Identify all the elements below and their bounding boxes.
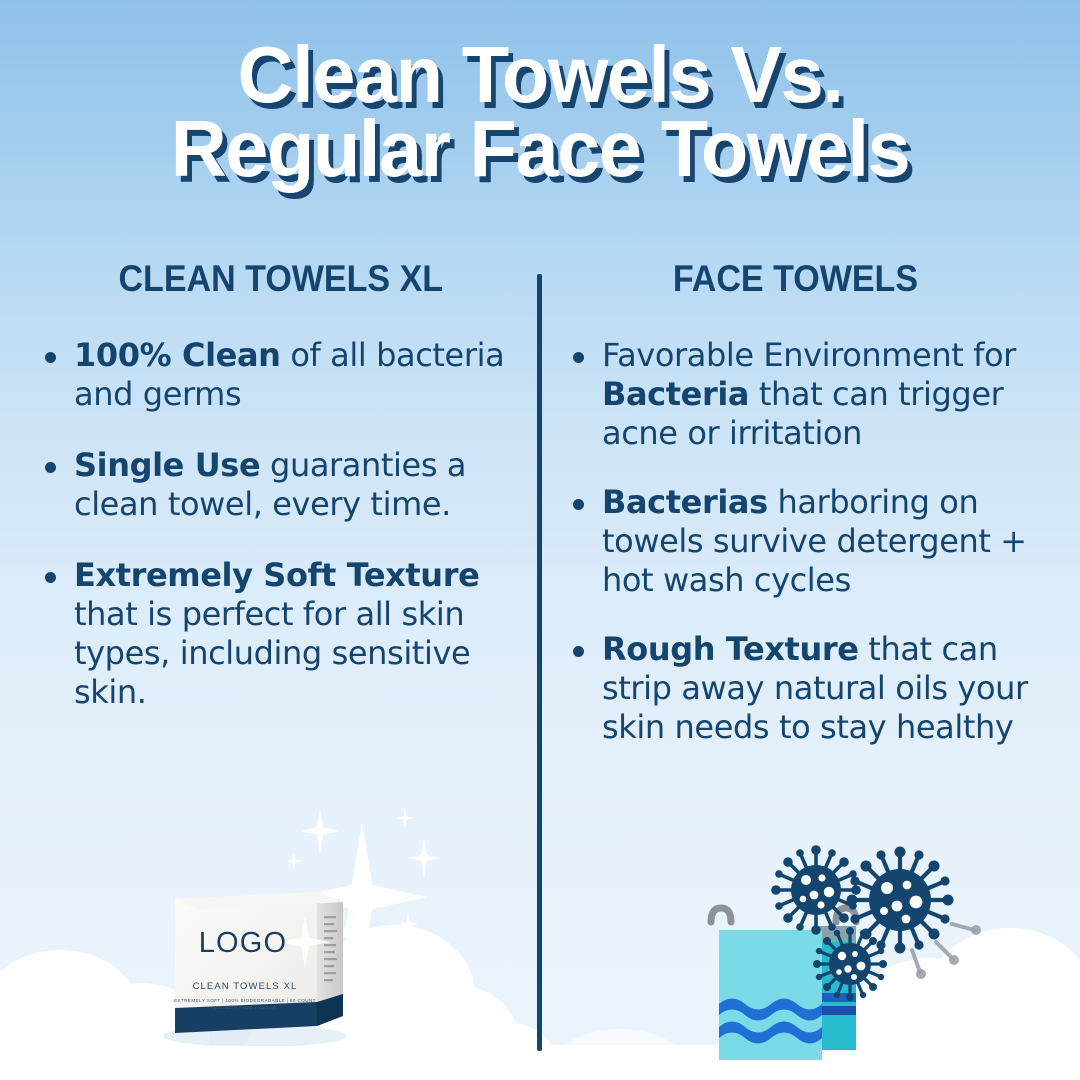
sparkle-icon — [407, 838, 441, 878]
column-heading-right: FACE TOWELS — [576, 258, 1047, 300]
list-item: Favorable Environment for Bacteria that … — [556, 336, 1068, 453]
sparkle-icon — [286, 852, 302, 870]
bullet-rest: that is perfect for all skin types, incl… — [74, 595, 470, 711]
product-box-image: LOGO CLEAN TOWELS XL EXTREMELY SOFT | 10… — [155, 886, 360, 1046]
list-item: Extremely Soft Texture that is perfect f… — [28, 556, 528, 712]
list-item: Single Use guaranties a clean towel, eve… — [28, 446, 528, 524]
sparkle-icon — [300, 808, 340, 854]
bullet-pre: Favorable Environment for — [602, 336, 1016, 374]
product-box-claims-line-2: CRUELTY FREE | VEGAN — [214, 1005, 276, 1010]
bullet-strong: Bacteria — [602, 375, 749, 413]
product-box-logo: LOGO — [199, 927, 288, 959]
towel-and-germs-image — [690, 838, 990, 1080]
infographic-canvas: Clean Towels Vs. Regular Face Towels CLE… — [0, 0, 1080, 1080]
benefit-list-left: 100% Clean of all bacteria and germs Sin… — [28, 336, 528, 712]
column-face-towels: FACE TOWELS Favorable Environment for Ba… — [556, 258, 1068, 777]
page-title-line-2: Regular Face Towels — [16, 112, 1064, 186]
sparkle-icon — [398, 912, 418, 936]
towel-front — [719, 930, 822, 1060]
product-box-name: CLEAN TOWELS XL — [193, 981, 298, 992]
product-box-claims-line-1: EXTREMELY SOFT | 100% BIODEGRADABLE | 50… — [174, 998, 316, 1003]
column-clean-towels: CLEAN TOWELS XL 100% Clean of all bacter… — [28, 258, 528, 744]
list-item: Rough Texture that can strip away natura… — [556, 630, 1068, 747]
list-item: Bacterias harboring on towels survive de… — [556, 483, 1068, 600]
sparkle-icon — [396, 808, 414, 828]
page-title: Clean Towels Vs. Regular Face Towels — [0, 38, 1080, 186]
bullet-strong: Bacterias — [602, 483, 768, 521]
column-divider — [537, 274, 542, 1051]
bullet-strong: Rough Texture — [602, 630, 859, 668]
list-item: 100% Clean of all bacteria and germs — [28, 336, 528, 414]
bullet-strong: Single Use — [74, 446, 260, 484]
bullet-strong: Extremely Soft Texture — [74, 556, 479, 594]
bullet-strong: 100% Clean — [74, 336, 281, 374]
column-heading-left: CLEAN TOWELS XL — [48, 258, 508, 300]
page-title-line-1: Clean Towels Vs. — [16, 38, 1064, 112]
drawback-list-right: Favorable Environment for Bacteria that … — [556, 336, 1068, 747]
